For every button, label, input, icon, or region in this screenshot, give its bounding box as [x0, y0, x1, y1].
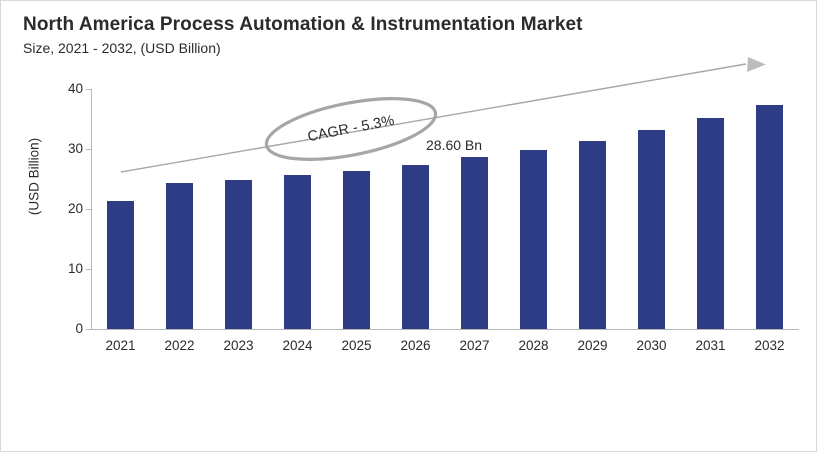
x-tick-label: 2031 — [681, 337, 740, 355]
cagr-callout: CAGR - 5.3% — [260, 97, 442, 161]
x-tick-label: 2024 — [268, 337, 327, 355]
x-tick-label: 2021 — [91, 337, 150, 355]
x-tick-label: 2027 — [445, 337, 504, 355]
x-tick-label: 2029 — [563, 337, 622, 355]
highlight-value-label: 28.60 Bn — [426, 137, 482, 153]
bar-2021[interactable] — [107, 201, 134, 329]
bar-2022[interactable] — [166, 183, 193, 329]
bar-2028[interactable] — [520, 150, 547, 329]
x-tick-label: 2022 — [150, 337, 209, 355]
x-tick-label: 2023 — [209, 337, 268, 355]
bar-2024[interactable] — [284, 175, 311, 329]
bar-2029[interactable] — [579, 141, 606, 329]
bar-2031[interactable] — [697, 118, 724, 329]
plot-area: (USD Billion) 010203040 2021202220232024… — [1, 1, 817, 452]
x-tick-label: 2026 — [386, 337, 445, 355]
bar-2030[interactable] — [638, 130, 665, 329]
x-tick-label: 2030 — [622, 337, 681, 355]
x-axis-line — [91, 329, 799, 330]
bar-2027[interactable] — [461, 157, 488, 329]
bar-2023[interactable] — [225, 180, 252, 329]
x-tick-label: 2032 — [740, 337, 799, 355]
bar-series — [1, 1, 817, 329]
chart-screenshot: North America Process Automation & Instr… — [0, 0, 817, 452]
x-tick-label: 2028 — [504, 337, 563, 355]
bar-2032[interactable] — [756, 105, 783, 329]
bar-2025[interactable] — [343, 171, 370, 329]
bar-2026[interactable] — [402, 165, 429, 329]
y-tick-mark — [86, 329, 92, 330]
x-tick-label: 2025 — [327, 337, 386, 355]
